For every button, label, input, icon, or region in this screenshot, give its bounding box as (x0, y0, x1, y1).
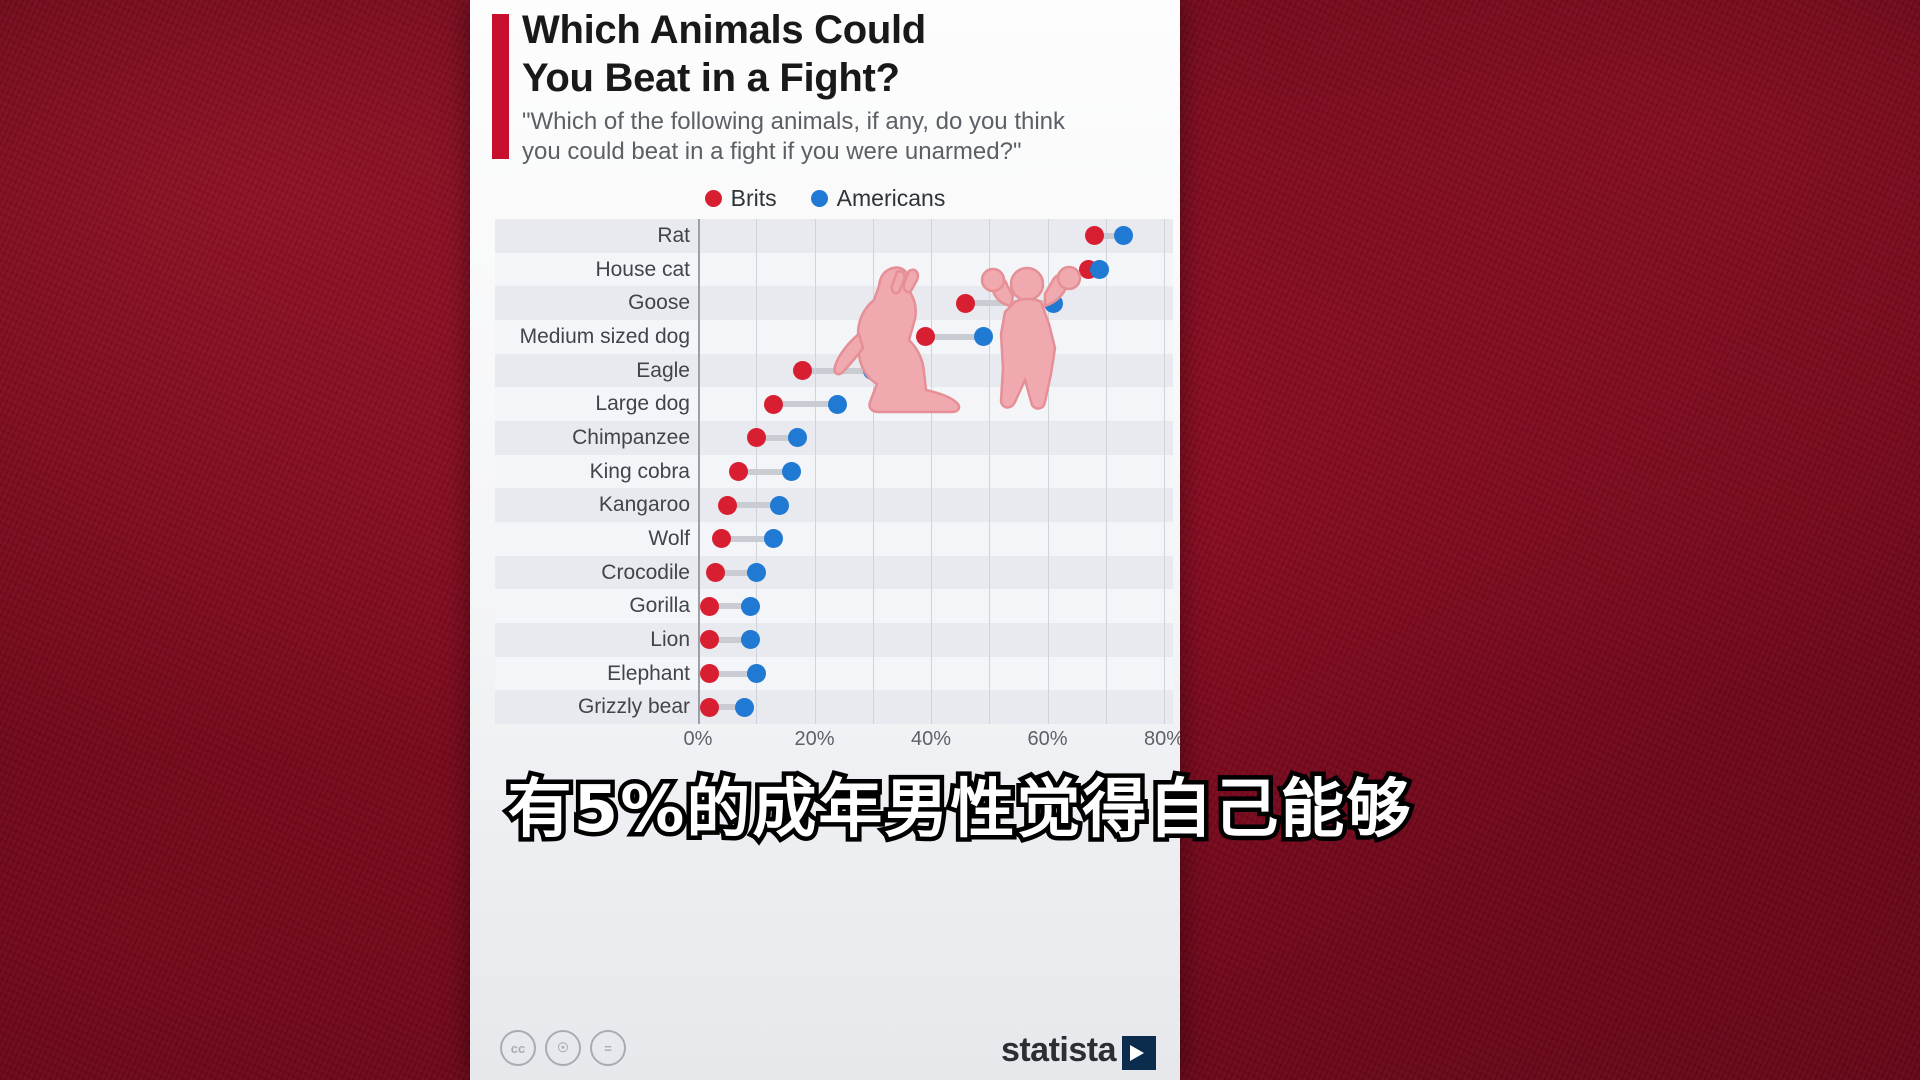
data-point-americans[interactable] (782, 462, 801, 481)
data-point-brits[interactable] (1085, 226, 1104, 245)
subtitle-line-2: you could beat in a fight if you were un… (522, 137, 1152, 167)
data-point-brits[interactable] (747, 428, 766, 447)
data-point-brits[interactable] (764, 395, 783, 414)
data-point-americans[interactable] (747, 563, 766, 582)
data-point-americans[interactable] (741, 597, 760, 616)
data-point-brits[interactable] (916, 327, 935, 346)
data-point-brits[interactable] (706, 563, 725, 582)
category-label-rat: Rat (487, 219, 698, 253)
category-label-elephant: Elephant (487, 657, 698, 691)
data-point-brits[interactable] (718, 496, 737, 515)
data-point-americans[interactable] (788, 428, 807, 447)
x-tick-label-80: 80% (1144, 728, 1180, 751)
gridline-50 (989, 219, 990, 724)
gridline-20 (815, 219, 816, 724)
category-label-kangaroo: Kangaroo (487, 488, 698, 522)
category-label-grizzly-bear: Grizzly bear (487, 690, 698, 724)
dumbbell-connector (803, 368, 873, 374)
data-point-americans[interactable] (1114, 226, 1133, 245)
category-label-lion: Lion (487, 623, 698, 657)
infographic-card: Which Animals Could You Beat in a Fight?… (470, 0, 1180, 1080)
category-label-crocodile: Crocodile (487, 556, 698, 590)
category-label-chimpanzee: Chimpanzee (487, 421, 698, 455)
statista-logo: statista (1001, 1031, 1156, 1070)
x-tick-label-20: 20% (794, 728, 834, 751)
data-point-americans[interactable] (828, 395, 847, 414)
data-point-brits[interactable] (700, 664, 719, 683)
dumbbell-connector (966, 300, 1053, 306)
x-tick-label-0: 0% (684, 728, 713, 751)
y-axis-line (698, 219, 700, 724)
legend-label: Brits (731, 185, 777, 212)
gridline-80 (1164, 219, 1165, 724)
creative-commons-badges: cc ☉ = (500, 1030, 626, 1066)
data-point-brits[interactable] (712, 529, 731, 548)
category-label-large-dog: Large dog (487, 387, 698, 421)
category-label-wolf: Wolf (487, 522, 698, 556)
no-derivatives-equals-icon: = (590, 1030, 626, 1066)
legend-item-americans[interactable]: Americans (811, 185, 946, 212)
category-label-eagle: Eagle (487, 354, 698, 388)
data-point-americans[interactable] (770, 496, 789, 515)
chart-legend: BritsAmericans (470, 182, 1180, 214)
page-title: Which Animals Could You Beat in a Fight? (522, 6, 1162, 102)
chart-plot-area: RatHouse catGooseMedium sized dogEagleLa… (495, 219, 1173, 724)
category-label-goose: Goose (487, 286, 698, 320)
cc-icon: cc (500, 1030, 536, 1066)
title-line-2: You Beat in a Fight? (522, 54, 1162, 102)
legend-swatch-americans-icon (811, 190, 828, 207)
statista-wordmark: statista (1001, 1031, 1116, 1070)
legend-label: Americans (837, 185, 946, 212)
statista-arrow-mark-icon (1122, 1036, 1156, 1070)
category-label-house-cat: House cat (487, 253, 698, 287)
gridline-70 (1106, 219, 1107, 724)
data-point-brits[interactable] (956, 294, 975, 313)
data-point-americans[interactable] (1044, 294, 1063, 313)
category-label-king-cobra: King cobra (487, 455, 698, 489)
subtitle-line-1: "Which of the following animals, if any,… (522, 107, 1152, 137)
legend-item-brits[interactable]: Brits (705, 185, 777, 212)
title-accent-bar (492, 14, 509, 159)
category-label-medium-sized-dog: Medium sized dog (487, 320, 698, 354)
legend-swatch-brits-icon (705, 190, 722, 207)
gridline-30 (873, 219, 874, 724)
title-line-1: Which Animals Could (522, 6, 1162, 54)
video-caption-overlay: 有5%的成年男性觉得自己能够 (0, 758, 1920, 850)
chart-subtitle: "Which of the following animals, if any,… (522, 107, 1152, 167)
attribution-person-icon: ☉ (545, 1030, 581, 1066)
data-point-americans[interactable] (735, 698, 754, 717)
data-point-brits[interactable] (700, 698, 719, 717)
x-tick-label-40: 40% (911, 728, 951, 751)
data-point-americans[interactable] (747, 664, 766, 683)
gridline-40 (931, 219, 932, 724)
x-tick-label-60: 60% (1027, 728, 1067, 751)
data-point-brits[interactable] (700, 597, 719, 616)
category-label-gorilla: Gorilla (487, 589, 698, 623)
